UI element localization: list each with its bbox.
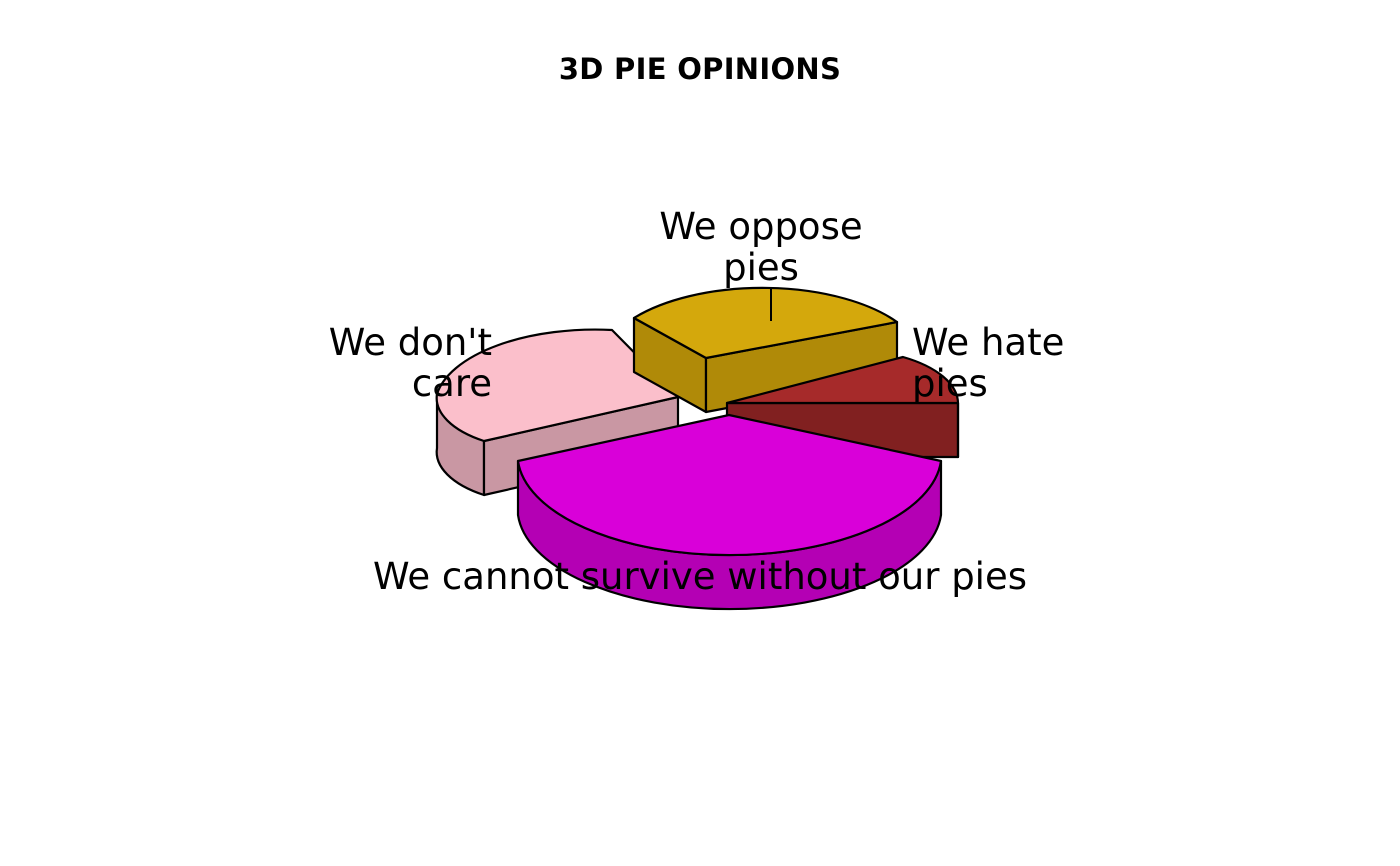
pie-label-oppose: We oppose pies <box>596 206 926 289</box>
pie-label-survive: We cannot survive without our pies <box>200 556 1200 597</box>
pie-label-hate: We hate pies <box>912 322 1212 405</box>
pie-chart-canvas: 3D PIE OPINIONS We oppo <box>0 0 1400 866</box>
pie-3d-graphic <box>0 0 1400 866</box>
pie-label-dont-care: We don't care <box>200 322 492 405</box>
